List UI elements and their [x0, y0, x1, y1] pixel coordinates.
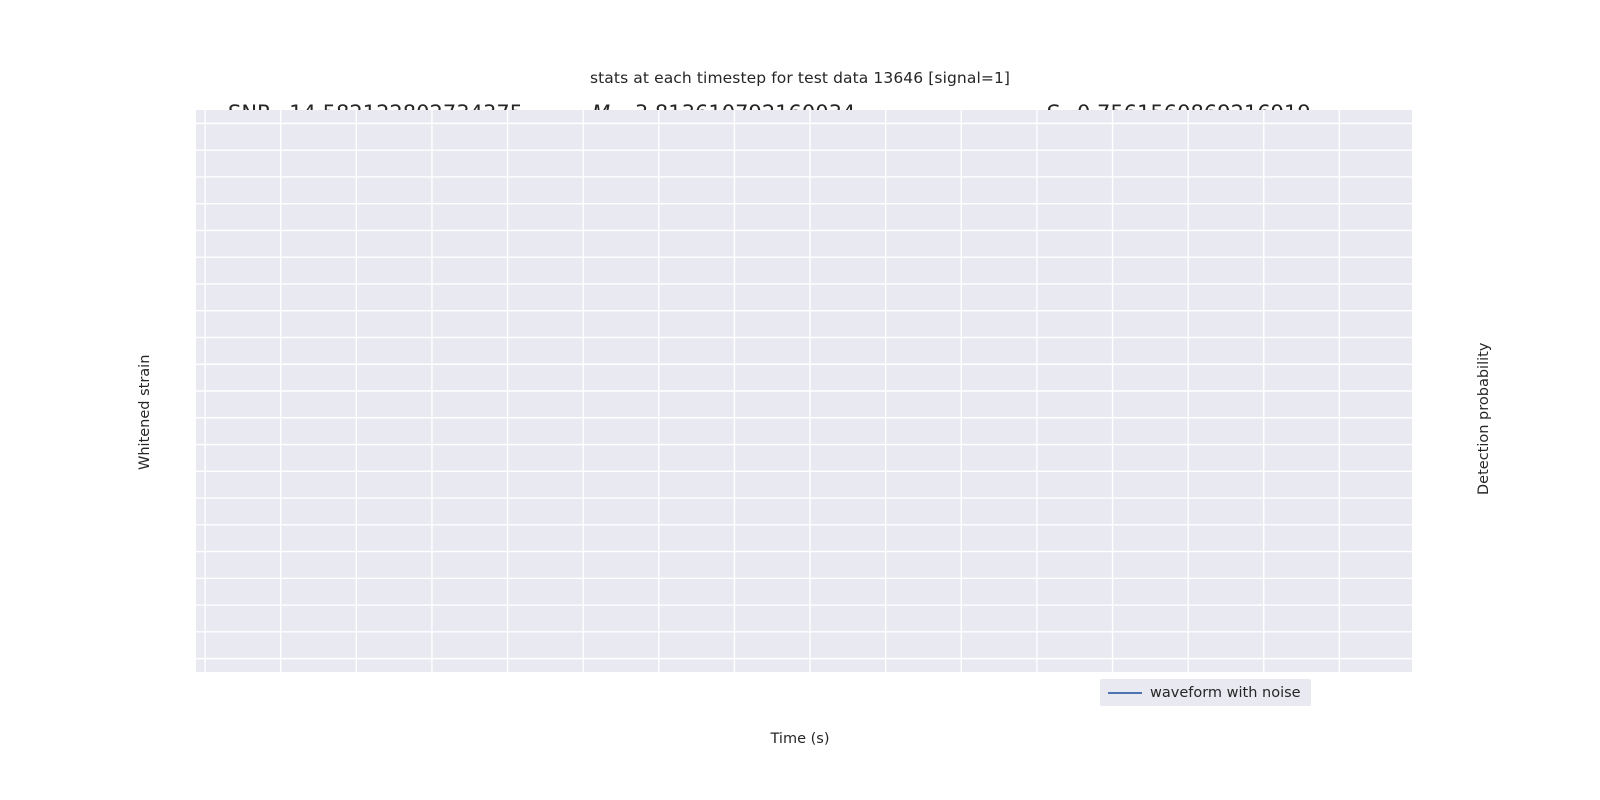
legend-label: waveform with noise [1150, 685, 1301, 701]
y-axis-right-label: Detection probability [1476, 343, 1492, 495]
plot-svg [196, 110, 1412, 672]
legend[interactable]: waveform with noise [1100, 679, 1311, 706]
x-axis-label: Time (s) [771, 731, 830, 747]
figure-canvas: stats at each timestep for test data 136… [0, 0, 1600, 800]
legend-line-swatch [1108, 692, 1142, 694]
plot-area [196, 110, 1412, 672]
chart-title: stats at each timestep for test data 136… [0, 69, 1600, 87]
gridlines [196, 110, 1412, 672]
y-axis-left-label: Whitened strain [137, 355, 153, 470]
